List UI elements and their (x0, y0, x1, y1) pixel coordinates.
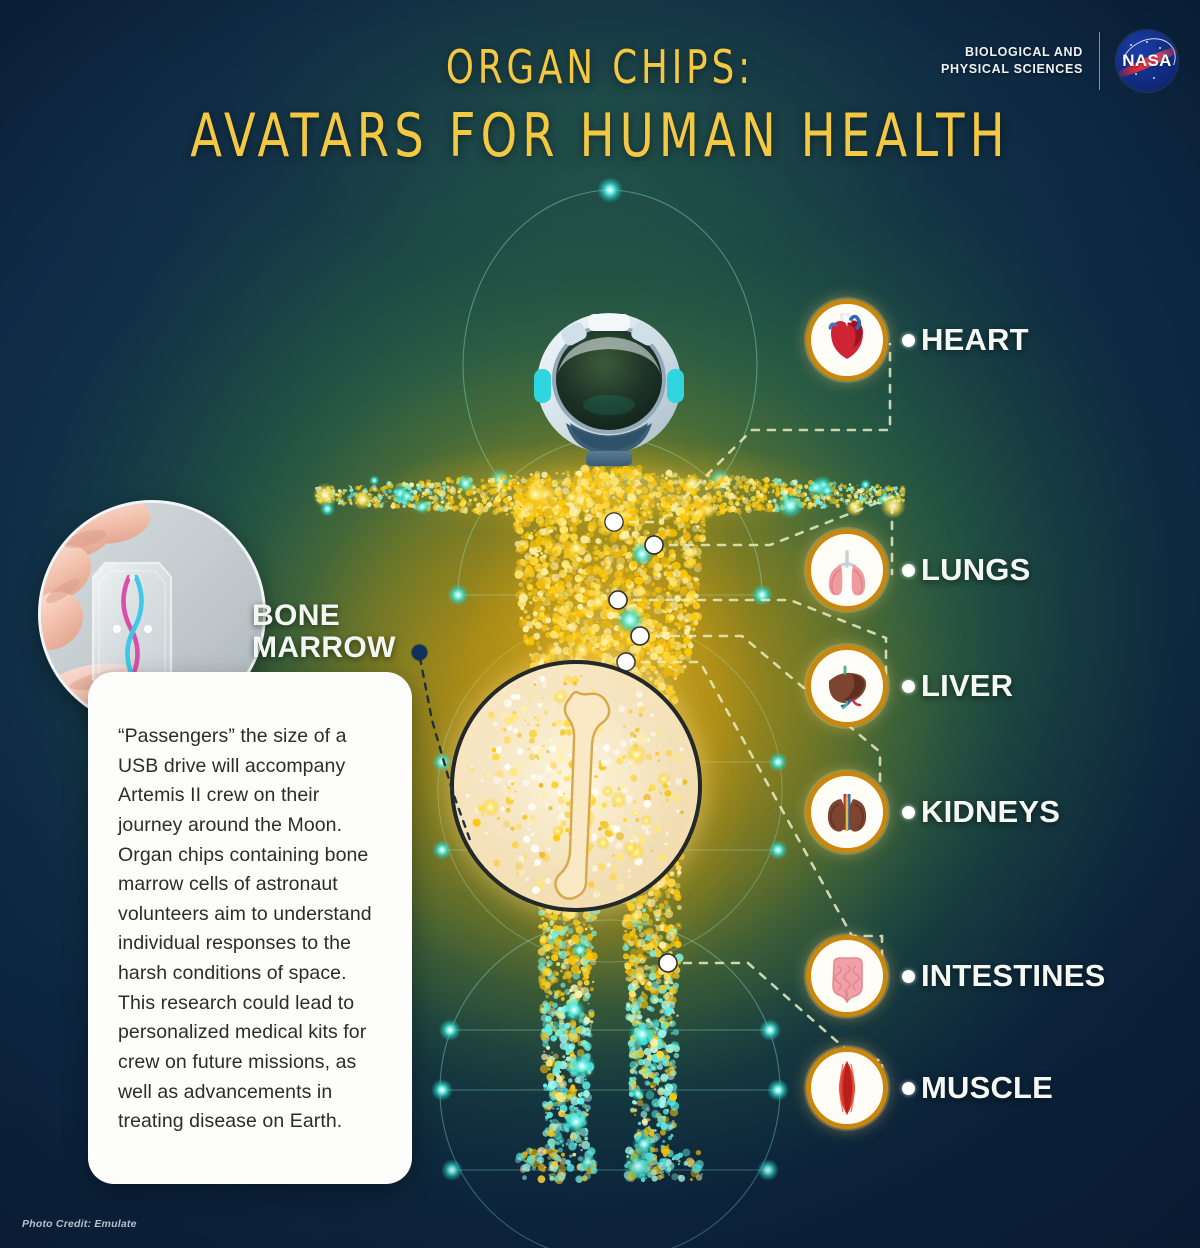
logo-wordmark: NASA (1116, 51, 1178, 71)
heart-organ-icon (806, 299, 888, 381)
kidneys-organ-icon (806, 771, 888, 853)
program-name-line-1: BIOLOGICAL AND (941, 44, 1083, 61)
photo-credit: Photo Credit: Emulate (22, 1218, 137, 1230)
branding-divider (1099, 32, 1100, 90)
muscle-organ-icon (806, 1047, 888, 1129)
program-name-line-2: PHYSICAL SCIENCES (941, 61, 1083, 78)
heart-lead-dot (902, 334, 915, 347)
liver-lead-dot (902, 680, 915, 693)
nasa-meatball-logo-icon: NASA (1116, 30, 1178, 92)
organ-label-lungs: LUNGS (921, 552, 1030, 588)
organ-callout-liver[interactable]: LIVER (806, 646, 1013, 726)
organ-label-muscle: MUSCLE (921, 1070, 1053, 1106)
organ-label-intestines: INTESTINES (921, 958, 1105, 994)
bone-marrow-label: BONE MARROW (252, 600, 396, 664)
organ-label-kidneys: KIDNEYS (921, 794, 1060, 830)
intestines-organ-icon (806, 935, 888, 1017)
nasa-branding: BIOLOGICAL AND PHYSICAL SCIENCES NASA (941, 30, 1178, 92)
bone-marrow-anchor-dot (412, 645, 427, 660)
organ-callout-kidneys[interactable]: KIDNEYS (806, 772, 1060, 852)
organ-callout-lungs[interactable]: LUNGS (806, 530, 1030, 610)
organ-callout-intestines[interactable]: INTESTINES (806, 936, 1105, 1016)
liver-organ-icon (806, 645, 888, 727)
title-line-2: AVATARS FOR HUMAN HEALTH (84, 106, 1116, 166)
organ-callout-muscle[interactable]: MUSCLE (806, 1048, 1053, 1128)
infographic-poster: ORGAN CHIPS: AVATARS FOR HUMAN HEALTH BI… (0, 0, 1200, 1248)
lungs-lead-dot (902, 564, 915, 577)
lungs-organ-icon (806, 529, 888, 611)
bone-marrow-label-line-2: MARROW (252, 632, 396, 664)
kidneys-lead-dot (902, 806, 915, 819)
program-name: BIOLOGICAL AND PHYSICAL SCIENCES (941, 44, 1099, 78)
organ-label-heart: HEART (921, 322, 1029, 358)
muscle-lead-dot (902, 1082, 915, 1095)
organ-callout-heart[interactable]: HEART (806, 300, 1029, 380)
description-card: “Passengers” the size of a USB drive wil… (88, 672, 412, 1184)
intestines-lead-dot (902, 970, 915, 983)
description-text: “Passengers” the size of a USB drive wil… (88, 672, 412, 1137)
bone-marrow-label-line-1: BONE (252, 600, 396, 632)
organ-label-liver: LIVER (921, 668, 1013, 704)
